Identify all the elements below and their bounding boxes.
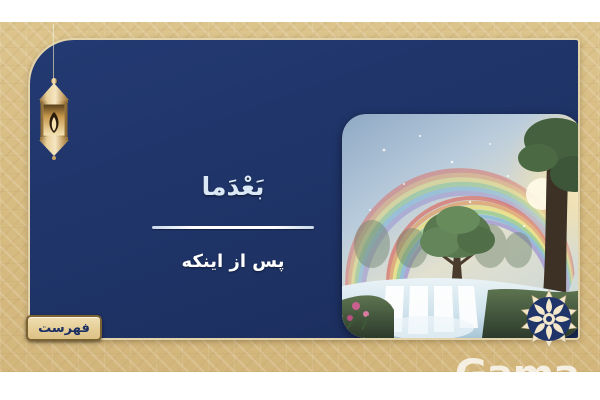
hanging-lantern bbox=[32, 24, 76, 164]
lantern-string-icon bbox=[53, 24, 54, 82]
term-divider bbox=[152, 226, 314, 229]
term-text-column: بَعْدَما پس از اینکه bbox=[138, 130, 328, 300]
index-button-label: فهرست bbox=[38, 322, 90, 335]
flashcard-screen: بَعْدَما پس از اینکه bbox=[0, 0, 600, 400]
star-rosette-medallion bbox=[516, 288, 582, 350]
bottom-letterbox bbox=[0, 372, 600, 400]
persian-meaning: پس از اینکه bbox=[182, 251, 285, 272]
vocabulary-card-panel: بَعْدَما پس از اینکه bbox=[28, 38, 580, 340]
arabic-term: بَعْدَما bbox=[202, 172, 265, 202]
top-letterbox bbox=[0, 0, 600, 22]
lantern-body-icon bbox=[32, 76, 76, 160]
index-button[interactable]: فهرست bbox=[26, 315, 102, 341]
